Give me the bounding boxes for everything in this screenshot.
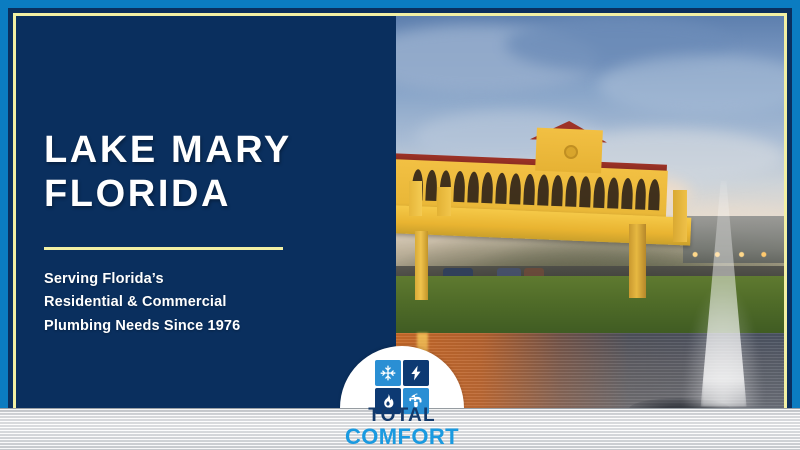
arch bbox=[592, 176, 604, 208]
arch bbox=[523, 173, 535, 205]
arch bbox=[620, 178, 632, 210]
page-title: LAKE MARY FLORIDA bbox=[44, 128, 292, 217]
copy-panel: LAKE MARY FLORIDA Serving Florida’s Resi… bbox=[16, 16, 396, 450]
arch bbox=[495, 172, 507, 204]
pavilion-tower bbox=[437, 187, 451, 215]
logo-wordmark: TOTAL COMFORT bbox=[340, 406, 464, 448]
logo-word-comfort: COMFORT bbox=[340, 426, 464, 448]
background-lights bbox=[683, 246, 784, 263]
arch bbox=[634, 178, 646, 210]
pavilion-tower bbox=[409, 181, 422, 216]
arch bbox=[509, 173, 521, 205]
pavilion-tower bbox=[673, 190, 687, 242]
arch bbox=[564, 175, 576, 207]
arch bbox=[453, 171, 465, 203]
logo-word-total: TOTAL bbox=[340, 406, 464, 425]
gold-divider bbox=[44, 247, 283, 250]
support-pier bbox=[415, 231, 428, 300]
subtitle-text: Serving Florida’s Residential & Commerci… bbox=[44, 268, 240, 338]
support-pier bbox=[629, 224, 646, 298]
arch bbox=[550, 175, 562, 207]
arch bbox=[467, 171, 479, 203]
arch bbox=[425, 169, 437, 201]
arch bbox=[648, 179, 660, 211]
arch bbox=[536, 174, 548, 206]
lightning-bolt-icon bbox=[403, 360, 429, 386]
promo-banner: LAKE MARY FLORIDA Serving Florida’s Resi… bbox=[0, 0, 800, 450]
arch bbox=[606, 177, 618, 209]
arch bbox=[578, 176, 590, 208]
snowflake-icon bbox=[375, 360, 401, 386]
arch bbox=[481, 172, 493, 204]
